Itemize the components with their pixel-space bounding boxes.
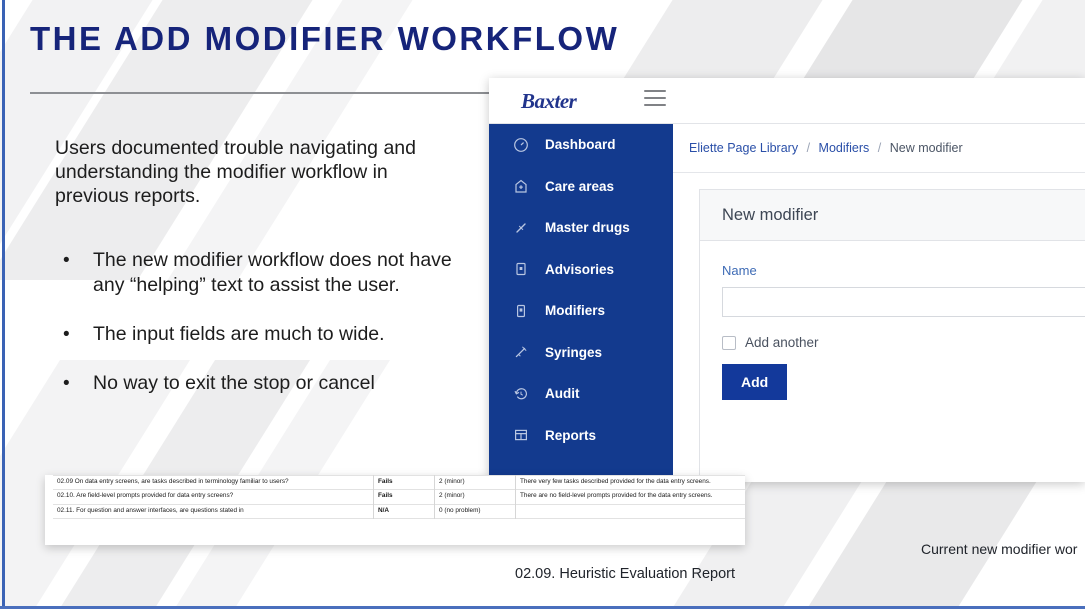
breadcrumb-section[interactable]: Modifiers	[819, 141, 870, 155]
slide-canvas: THE ADD MODIFIER WORKFLOW Users document…	[0, 0, 1085, 609]
hamburger-icon[interactable]	[644, 90, 666, 108]
list-item-label: No way to exit the stop or cancel	[93, 372, 375, 394]
heuristic-report-clip: transit 02.09 On data entry screens, are…	[53, 475, 743, 519]
cell-question: 02.09 On data entry screens, are tasks d…	[53, 475, 374, 490]
cell-comment	[516, 504, 746, 519]
cell-comment: There are no field-level prompts provide…	[516, 490, 746, 505]
add-another-label: Add another	[745, 335, 819, 350]
heuristic-report-table: transit 02.09 On data entry screens, are…	[53, 475, 745, 519]
baxter-logo: Baxter	[521, 89, 576, 114]
card-body: Name Add another Add	[700, 241, 1085, 410]
heuristic-report-inset: transit 02.09 On data entry screens, are…	[45, 475, 745, 545]
breadcrumb-separator: /	[873, 141, 886, 155]
cell-result: Fails	[374, 490, 435, 505]
hamburger-bar	[644, 97, 666, 99]
hamburger-bar	[644, 104, 666, 106]
history-icon	[511, 384, 531, 404]
card-title: New modifier	[700, 190, 1085, 241]
cell-result: Fails	[374, 475, 435, 490]
left-accent-rule	[2, 0, 5, 609]
cell-result: N/A	[374, 504, 435, 519]
caption-right: Current new modifier wor	[921, 541, 1077, 557]
cell-comment: There very few tasks described provided …	[516, 475, 746, 490]
add-button[interactable]: Add	[722, 364, 787, 400]
sidebar-item-dashboard[interactable]: Dashboard	[489, 124, 673, 166]
table-icon	[511, 425, 531, 445]
sidebar-item-reports[interactable]: Reports	[489, 415, 673, 457]
vial-icon	[511, 301, 531, 321]
cell-severity: 2 (minor)	[435, 490, 516, 505]
bullet-dot: •	[63, 322, 70, 347]
sidebar-item-label: Advisories	[545, 262, 614, 277]
name-input[interactable]	[722, 287, 1085, 317]
app-screenshot-panel: Baxter Dashboard	[489, 78, 1085, 482]
app-body: Dashboard Care areas	[489, 124, 1085, 482]
list-item: • The new modifier workflow does not hav…	[55, 248, 475, 298]
sidebar-item-label: Reports	[545, 428, 596, 443]
title-divider	[30, 92, 492, 94]
sidebar-item-label: Care areas	[545, 179, 614, 194]
sidebar-item-label: Modifiers	[545, 303, 605, 318]
table-row: 02.10. Are field-level prompts provided …	[53, 490, 745, 505]
app-content: Eliette Page Library / Modifiers / New m…	[673, 124, 1085, 482]
sidebar-item-syringes[interactable]: Syringes	[489, 332, 673, 374]
hospital-icon	[511, 176, 531, 196]
findings-list: • The new modifier workflow does not hav…	[55, 248, 475, 420]
sidebar: Dashboard Care areas	[489, 124, 673, 482]
breadcrumb: Eliette Page Library / Modifiers / New m…	[673, 124, 1085, 173]
pill-icon	[511, 218, 531, 238]
new-modifier-card: New modifier Name Add another Add	[699, 189, 1085, 482]
sidebar-item-label: Syringes	[545, 345, 602, 360]
cell-severity: 2 (minor)	[435, 475, 516, 490]
add-another-checkbox[interactable]	[722, 336, 736, 350]
syringe-icon	[511, 342, 531, 362]
list-item: • No way to exit the stop or cancel	[55, 371, 475, 396]
bullet-dot: •	[63, 371, 70, 396]
breadcrumb-current: New modifier	[890, 141, 963, 155]
list-item-label: The new modifier workflow does not have …	[93, 249, 452, 296]
breadcrumb-root[interactable]: Eliette Page Library	[689, 141, 798, 155]
sidebar-item-label: Audit	[545, 386, 580, 401]
sidebar-item-master-drugs[interactable]: Master drugs	[489, 207, 673, 249]
list-item-label: The input fields are much to wide.	[93, 323, 385, 345]
cell-question: 02.10. Are field-level prompts provided …	[53, 490, 374, 505]
gauge-icon	[511, 135, 531, 155]
sidebar-item-audit[interactable]: Audit	[489, 373, 673, 415]
alert-book-icon	[511, 259, 531, 279]
sidebar-item-label: Dashboard	[545, 137, 616, 152]
table-row: 02.11. For question and answer interface…	[53, 504, 745, 519]
sidebar-item-care-areas[interactable]: Care areas	[489, 166, 673, 208]
bullet-dot: •	[63, 248, 70, 273]
table-row: 02.09 On data entry screens, are tasks d…	[53, 475, 745, 490]
cell-question: 02.11. For question and answer interface…	[53, 504, 374, 519]
sidebar-item-advisories[interactable]: Advisories	[489, 249, 673, 291]
sidebar-item-label: Master drugs	[545, 220, 630, 235]
cell-severity: 0 (no problem)	[435, 504, 516, 519]
caption-center: 02.09. Heuristic Evaluation Report	[515, 566, 735, 582]
name-field-label: Name	[722, 263, 1085, 278]
sidebar-item-modifiers[interactable]: Modifiers	[489, 290, 673, 332]
lead-paragraph: Users documented trouble navigating and …	[55, 136, 455, 208]
page-title: THE ADD MODIFIER WORKFLOW	[30, 20, 619, 58]
app-header: Baxter	[489, 78, 1085, 124]
hamburger-bar	[644, 90, 666, 92]
add-another-row[interactable]: Add another	[722, 335, 1085, 350]
breadcrumb-separator: /	[802, 141, 815, 155]
list-item: • The input fields are much to wide.	[55, 322, 475, 347]
